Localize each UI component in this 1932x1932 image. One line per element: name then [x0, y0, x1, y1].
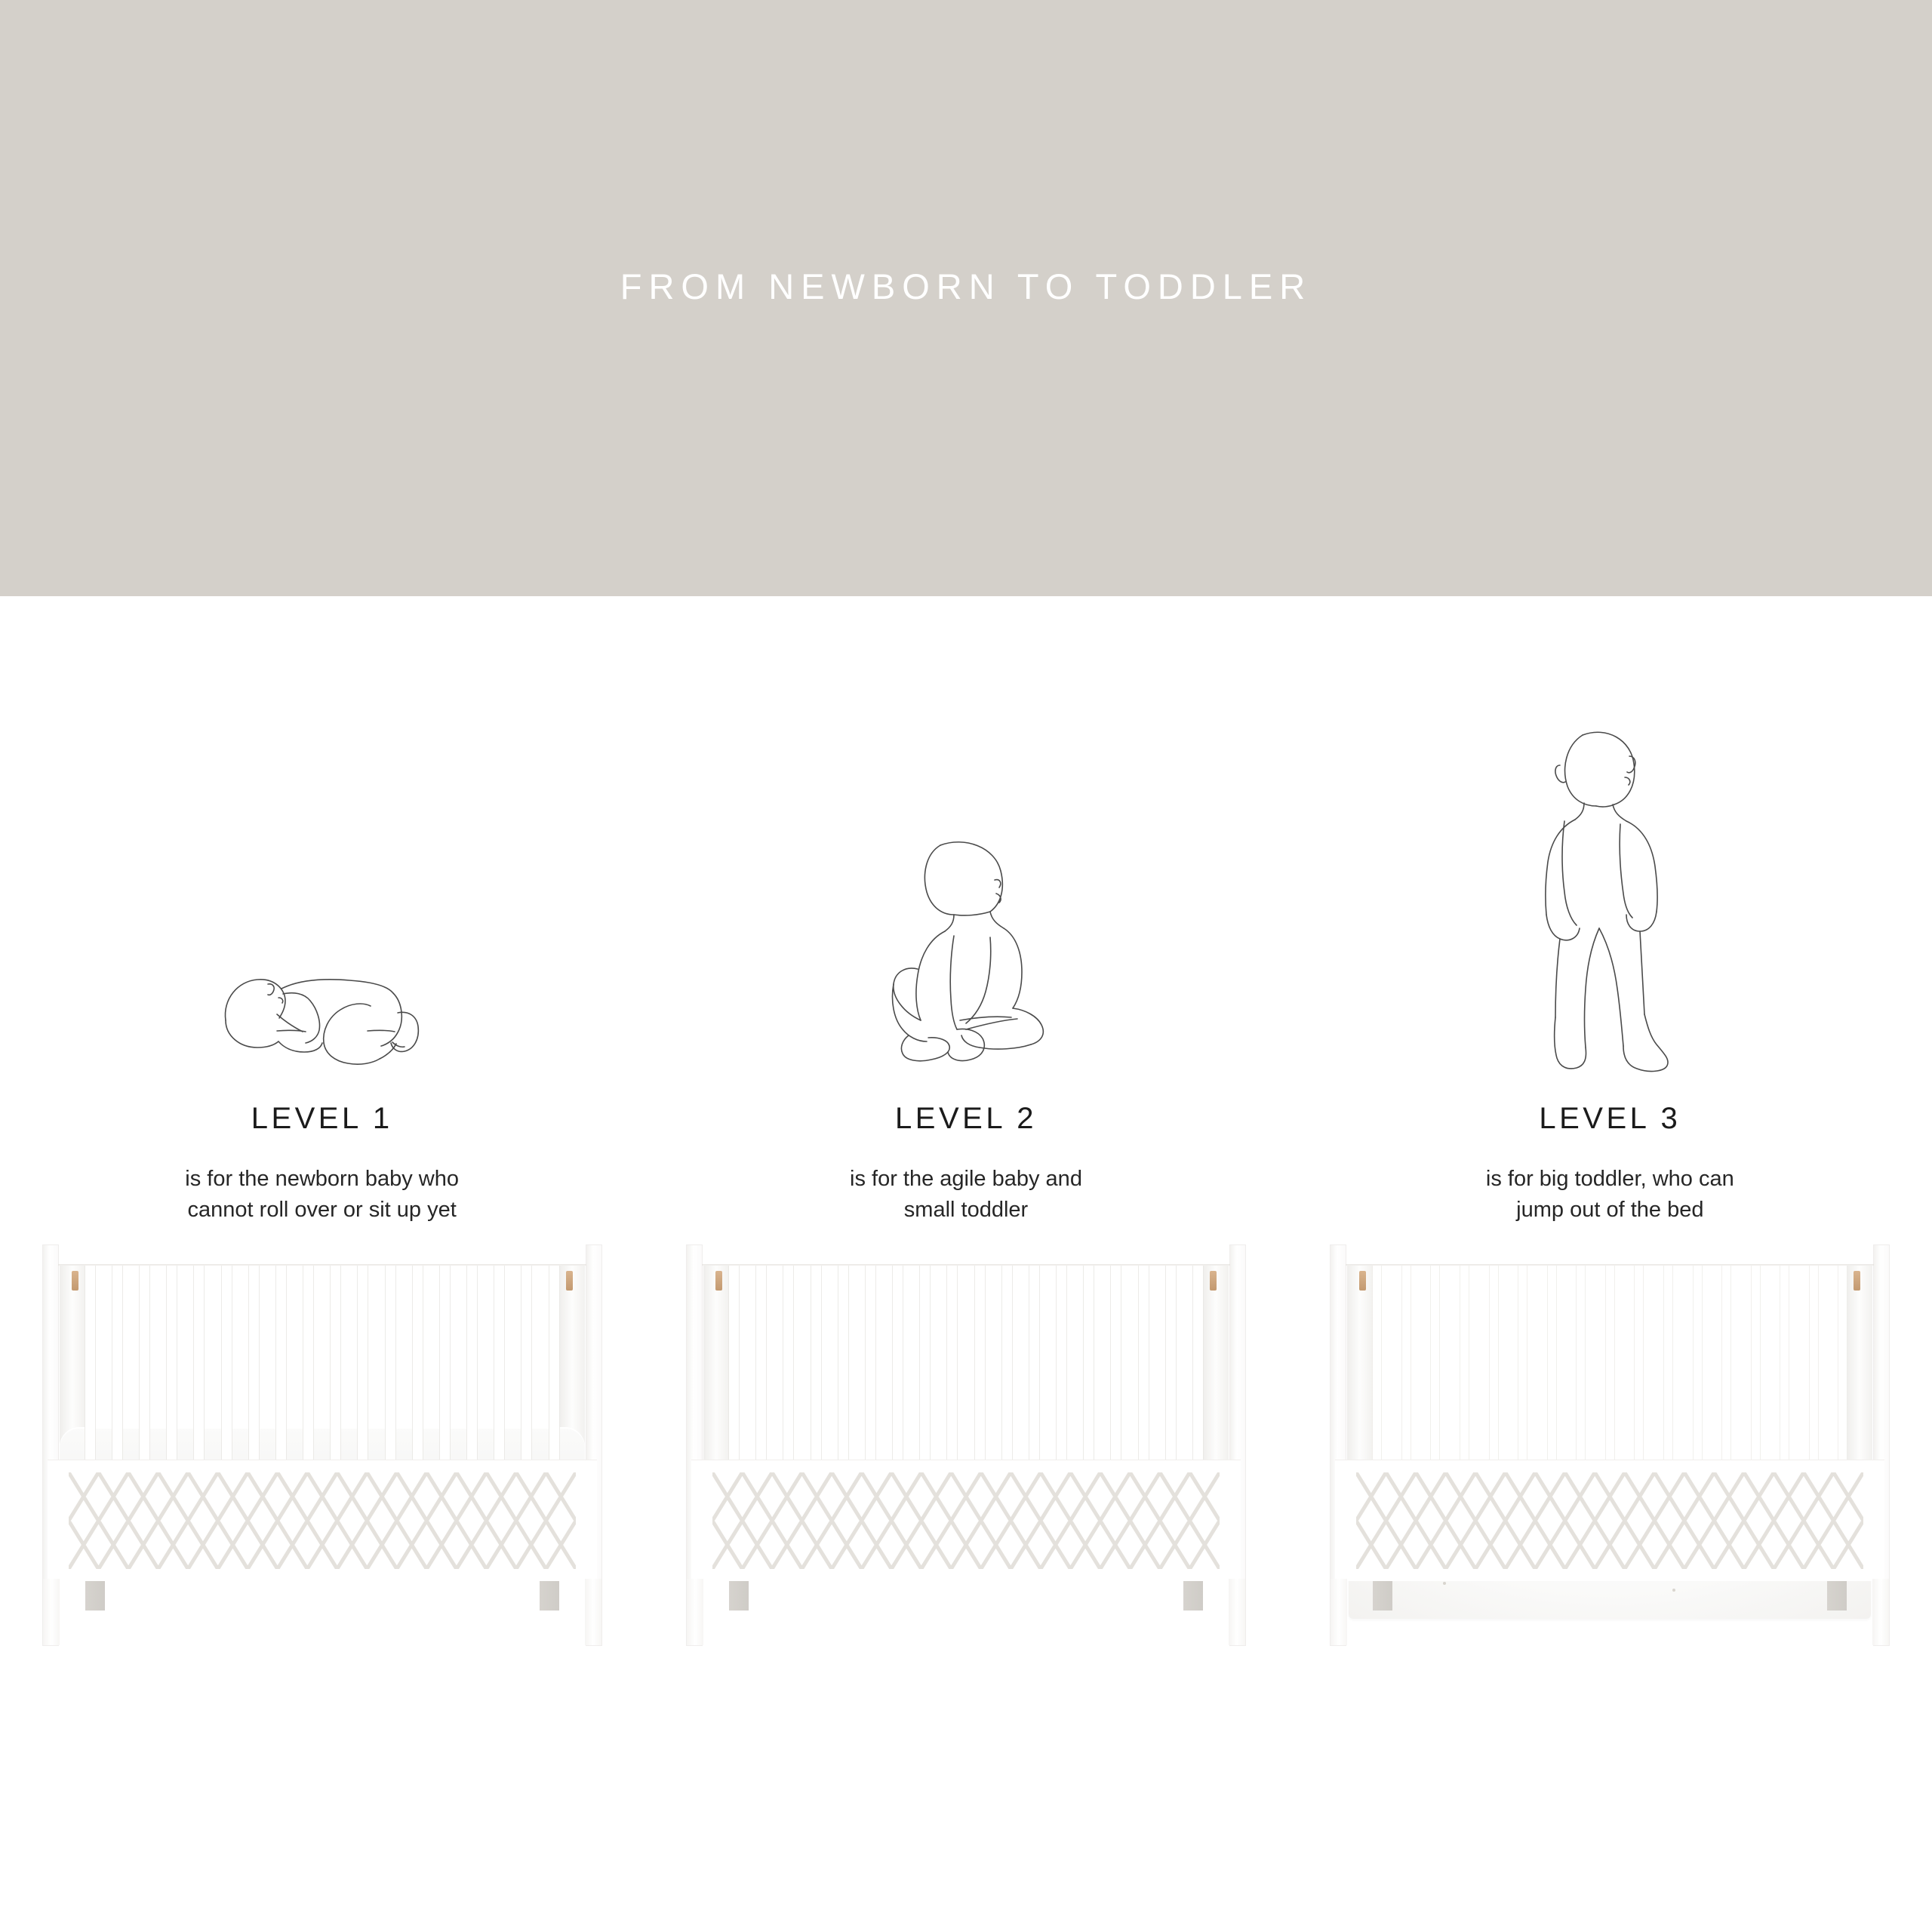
- level-column-3: LEVEL 3 is for big toddler, who can jump…: [1288, 596, 1932, 1932]
- level-column-1: LEVEL 1 is for the newborn baby who cann…: [0, 596, 644, 1932]
- level-column-2: LEVEL 2 is for the agile baby and small …: [644, 596, 1287, 1932]
- crib-level-3: [1331, 1245, 1889, 1645]
- levels-columns: LEVEL 1 is for the newborn baby who cann…: [0, 596, 1932, 1932]
- wood-peg-icon: [72, 1271, 78, 1291]
- standing-toddler-icon: [1534, 724, 1685, 1079]
- crib-back-foot: [1827, 1579, 1847, 1611]
- crib-leg-front-right: [1872, 1579, 1889, 1645]
- wood-peg-icon: [1210, 1271, 1217, 1291]
- level-3-crib-zone: [1288, 1245, 1932, 1924]
- header-band: FROM NEWBORN TO TODDLER: [0, 0, 1932, 596]
- crib-back-foot: [729, 1579, 749, 1611]
- level-1-crib-zone: [0, 1245, 644, 1924]
- crib-back-foot: [1373, 1579, 1392, 1611]
- level-2-icon-zone: [644, 596, 1287, 1079]
- crib-leg-front-left: [1331, 1579, 1347, 1645]
- lying-newborn-icon: [209, 958, 435, 1079]
- levels-section: LEVEL 1 is for the newborn baby who cann…: [0, 596, 1932, 1932]
- crib-top-rail: [1341, 1253, 1878, 1265]
- crib-apron-panel: [48, 1460, 597, 1581]
- level-3-label: LEVEL 3: [1288, 1103, 1932, 1134]
- crib-leg-front-right: [1229, 1579, 1245, 1645]
- crib-back-foot: [1183, 1579, 1203, 1611]
- crib-back-foot: [540, 1579, 559, 1611]
- crib-back-foot: [85, 1579, 105, 1611]
- crib-level-1: [43, 1245, 601, 1645]
- harlequin-pattern: [1356, 1472, 1863, 1569]
- level-2-label: LEVEL 2: [644, 1103, 1287, 1134]
- sitting-baby-icon: [875, 830, 1057, 1079]
- crib-top-rail: [697, 1253, 1235, 1265]
- crib-level-2: [687, 1245, 1245, 1645]
- level-1-label: LEVEL 1: [0, 1103, 644, 1134]
- level-1-icon-zone: [0, 596, 644, 1079]
- level-2-caption: is for the agile baby and small toddler: [644, 1164, 1287, 1226]
- crib-apron-panel: [691, 1460, 1241, 1581]
- wood-peg-icon: [1854, 1271, 1860, 1291]
- page-title: FROM NEWBORN TO TODDLER: [620, 269, 1312, 304]
- crib-top-rail: [54, 1253, 591, 1265]
- level-3-caption: is for big toddler, who can jump out of …: [1288, 1164, 1932, 1226]
- level-1-caption: is for the newborn baby who cannot roll …: [0, 1164, 644, 1226]
- harlequin-pattern: [69, 1472, 576, 1569]
- crib-leg-front-left: [43, 1579, 60, 1645]
- crib-leg-front-right: [585, 1579, 601, 1645]
- crib-apron-panel: [1335, 1460, 1884, 1581]
- level-2-crib-zone: [644, 1245, 1287, 1924]
- wood-peg-icon: [715, 1271, 722, 1291]
- wood-peg-icon: [566, 1271, 573, 1291]
- level-3-icon-zone: [1288, 596, 1932, 1079]
- wood-peg-icon: [1359, 1271, 1366, 1291]
- harlequin-pattern: [712, 1472, 1220, 1569]
- crib-leg-front-left: [687, 1579, 703, 1645]
